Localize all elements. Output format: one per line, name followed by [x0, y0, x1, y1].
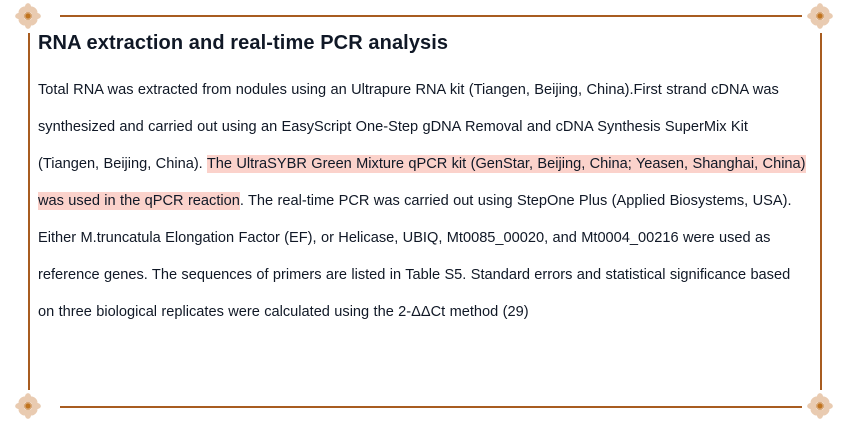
- paragraph-text-after-highlight: . The real-time PCR was carried out usin…: [38, 193, 792, 320]
- frame-border-top: [60, 15, 802, 17]
- flower-ornament-top-left-icon: [14, 2, 42, 30]
- section-heading: RNA extraction and real-time PCR analysi…: [38, 30, 810, 56]
- frame-border-left: [28, 33, 30, 390]
- document-content: RNA extraction and real-time PCR analysi…: [38, 30, 810, 331]
- frame-border-bottom: [60, 406, 802, 408]
- flower-ornament-top-right-icon: [806, 2, 834, 30]
- document-page: RNA extraction and real-time PCR analysi…: [0, 0, 847, 425]
- body-paragraph: Total RNA was extracted from nodules usi…: [38, 72, 810, 331]
- flower-ornament-bottom-right-icon: [806, 392, 834, 420]
- flower-ornament-bottom-left-icon: [14, 392, 42, 420]
- frame-border-right: [820, 33, 822, 390]
